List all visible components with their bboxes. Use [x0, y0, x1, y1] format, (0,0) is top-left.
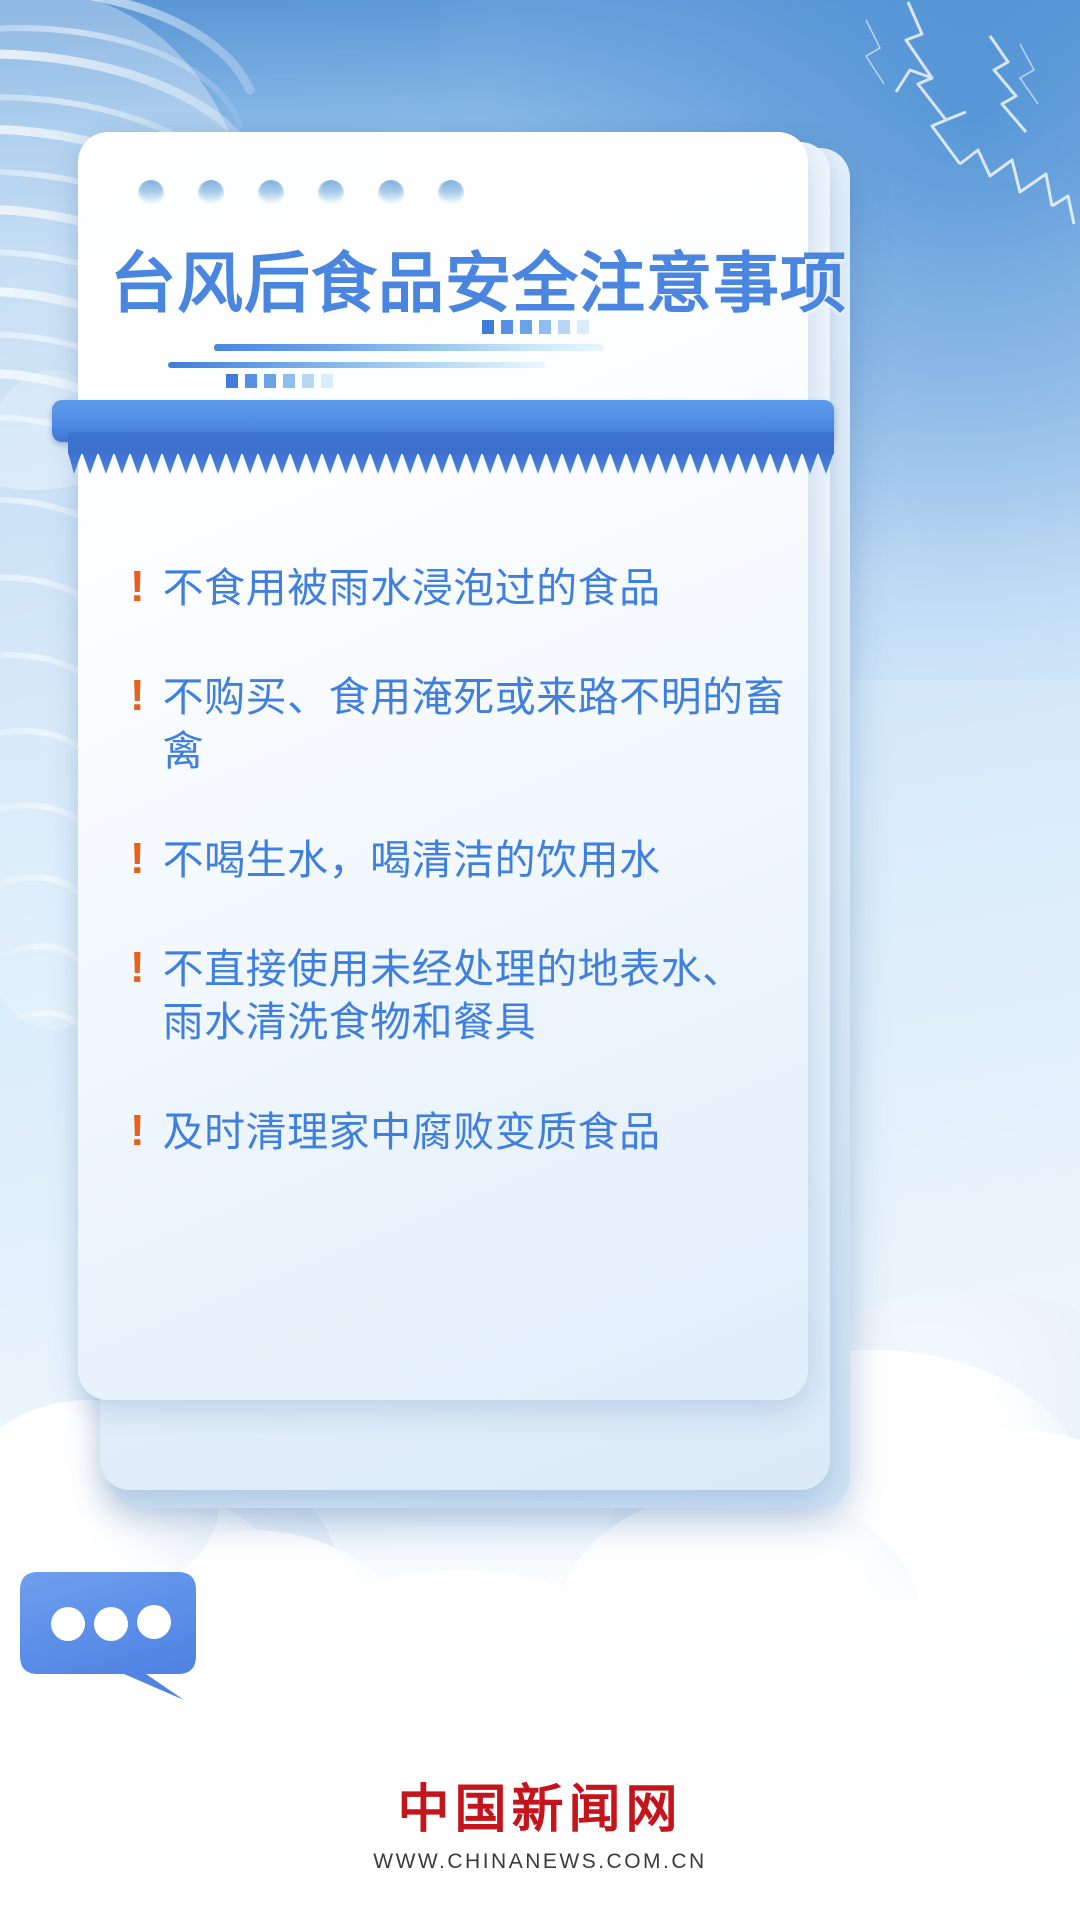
notepad-hole — [438, 180, 464, 206]
notepad-hole — [198, 180, 224, 206]
brand-url: WWW.CHINANEWS.COM.CN — [373, 1850, 706, 1874]
list-item-text: 不食用被雨水浸泡过的食品 — [163, 562, 661, 615]
perforated-tear-edge — [68, 450, 834, 476]
list-item-line: 不食用被雨水浸泡过的食品 — [163, 565, 661, 611]
exclamation-icon: ! — [130, 564, 145, 610]
bubble-dot — [137, 1605, 171, 1639]
tips-list: ! 不食用被雨水浸泡过的食品 ! 不购买、食用淹死或来路不明的畜禽 ! 不喝生水… — [130, 562, 790, 1215]
list-item: ! 不购买、食用淹死或来路不明的畜禽 — [130, 671, 790, 778]
notepad-hole — [138, 180, 164, 206]
decor-line-lower — [168, 362, 546, 368]
notepad-hole — [378, 180, 404, 206]
list-item-text: 不购买、食用淹死或来路不明的畜禽 — [163, 671, 790, 778]
exclamation-icon: ! — [130, 945, 145, 991]
list-item-text: 不喝生水，喝清洁的饮用水 — [163, 834, 661, 887]
list-item-line-2: 雨水清洗食物和餐具 — [163, 996, 744, 1049]
exclamation-icon: ! — [130, 1108, 145, 1154]
list-item: ! 不直接使用未经处理的地表水、 雨水清洗食物和餐具 — [130, 943, 790, 1050]
exclamation-icon: ! — [130, 836, 145, 882]
notepad-holes — [138, 180, 464, 206]
exclamation-icon: ! — [130, 673, 145, 719]
list-item: ! 不食用被雨水浸泡过的食品 — [130, 562, 790, 615]
bubble-dot — [51, 1607, 85, 1641]
list-item-line: 不喝生水，喝清洁的饮用水 — [163, 837, 661, 883]
speech-bubble-icon — [6, 1560, 206, 1700]
footer: 中国新闻网 WWW.CHINANEWS.COM.CN — [0, 1767, 1080, 1874]
list-item-text: 不直接使用未经处理的地表水、 雨水清洗食物和餐具 — [163, 943, 744, 1050]
list-item-line: 不直接使用未经处理的地表水、 — [163, 946, 744, 992]
notepad-hole — [258, 180, 284, 206]
list-item-line: 及时清理家中腐败变质食品 — [163, 1109, 661, 1155]
notepad-hole — [318, 180, 344, 206]
title-decoration — [108, 320, 768, 394]
list-item-line: 不购买、食用淹死或来路不明的畜禽 — [163, 674, 786, 773]
notepad-card: 台风后食品安全注意事项 — [78, 132, 808, 1400]
decor-line-upper — [214, 344, 604, 351]
brand-logo: 中国新闻网 — [397, 1767, 682, 1842]
list-item: ! 不喝生水，喝清洁的饮用水 — [130, 834, 790, 887]
decor-dots-top — [482, 320, 589, 334]
decor-dots-bottom — [226, 374, 333, 388]
page-title: 台风后食品安全注意事项 — [110, 230, 790, 326]
bubble-dot — [94, 1607, 128, 1641]
list-item-text: 及时清理家中腐败变质食品 — [163, 1106, 661, 1159]
list-item: ! 及时清理家中腐败变质食品 — [130, 1106, 790, 1159]
